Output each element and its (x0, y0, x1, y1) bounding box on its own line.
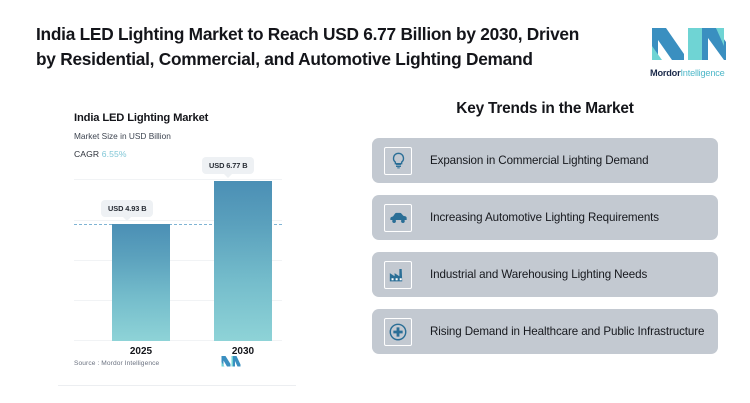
medical-plus-icon (384, 318, 412, 346)
trend-label: Increasing Automotive Lighting Requireme… (430, 210, 659, 226)
cagr-label: CAGR (74, 149, 99, 159)
chart-source-row: Source : Mordor Intelligence (74, 354, 282, 372)
chart-plot-area: USD 4.93 B USD 6.77 B (74, 163, 282, 341)
chart-subtitle: Market Size in USD Billion (74, 131, 282, 141)
trend-card-healthcare-infrastructure[interactable]: Rising Demand in Healthcare and Public I… (372, 309, 718, 354)
trend-label: Rising Demand in Healthcare and Public I… (430, 324, 704, 340)
market-chart-card: India LED Lighting Market Market Size in… (58, 98, 296, 386)
factory-icon (384, 261, 412, 289)
brand-wordmark: MordorIntelligence (650, 68, 726, 78)
lightbulb-icon (384, 147, 412, 175)
brand-word-mordor: Mordor (650, 68, 680, 78)
trend-label: Industrial and Warehousing Lighting Need… (430, 267, 647, 283)
brand-word-intelligence: Intelligence (680, 68, 724, 78)
page-title: India LED Lighting Market to Reach USD 6… (36, 22, 601, 71)
brand-logo: MordorIntelligence (650, 24, 726, 78)
mordor-intelligence-mark (650, 24, 726, 62)
value-label-2030: USD 6.77 B (202, 157, 254, 174)
source-text: Source : Mordor Intelligence (74, 360, 159, 367)
trend-card-automotive-lighting[interactable]: Increasing Automotive Lighting Requireme… (372, 195, 718, 240)
gridline (74, 179, 282, 180)
trend-card-commercial-lighting[interactable]: Expansion in Commercial Lighting Demand (372, 138, 718, 183)
car-icon (384, 204, 412, 232)
source-logo-icon (221, 354, 241, 372)
chart-title: India LED Lighting Market (74, 112, 282, 124)
key-trends-heading: Key Trends in the Market (372, 100, 718, 118)
mordor-mini-mark (221, 355, 241, 367)
trend-card-industrial-warehousing[interactable]: Industrial and Warehousing Lighting Need… (372, 252, 718, 297)
bar-2025 (112, 224, 170, 341)
value-label-2025: USD 4.93 B (101, 200, 153, 217)
page-header: India LED Lighting Market to Reach USD 6… (0, 0, 750, 92)
bar-2030 (214, 181, 272, 341)
cagr-value: 6.55% (102, 149, 127, 159)
key-trends-panel: Key Trends in the Market Expansion in Co… (372, 100, 718, 366)
trend-label: Expansion in Commercial Lighting Demand (430, 153, 648, 169)
